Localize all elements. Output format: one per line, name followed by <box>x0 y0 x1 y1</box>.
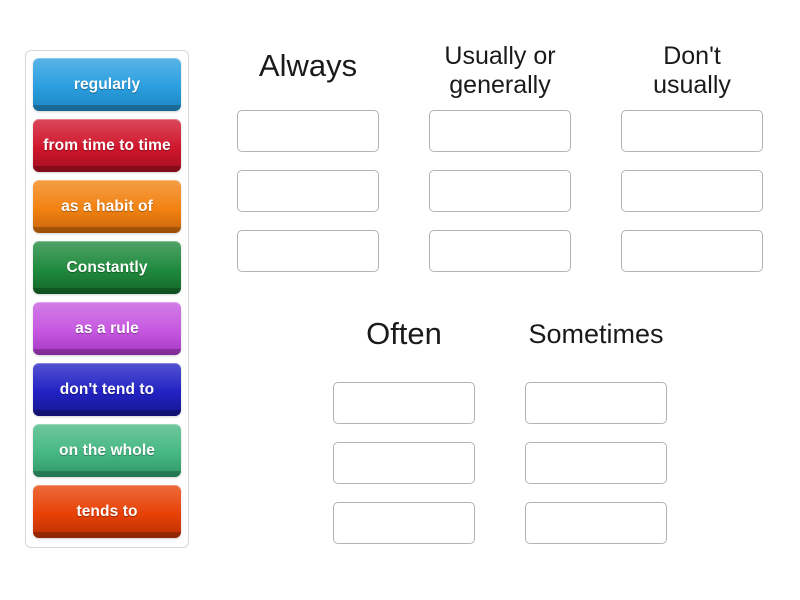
dropzone-slot[interactable] <box>333 382 475 424</box>
group-dropzones <box>621 110 763 272</box>
group-title: Usually or generally <box>429 42 571 110</box>
dropzone-slot[interactable] <box>429 230 571 272</box>
dropzone-slot[interactable] <box>429 110 571 152</box>
group-dropzones <box>429 110 571 272</box>
word-tile[interactable]: Constantly <box>33 241 181 294</box>
group-column-always: Always <box>237 48 379 272</box>
group-title: Don't usually <box>621 42 763 110</box>
dropzone-slot[interactable] <box>237 230 379 272</box>
word-tile-label: Constantly <box>60 259 153 277</box>
dropzone-slot[interactable] <box>333 442 475 484</box>
group-title: Often <box>333 316 475 382</box>
group-dropzones <box>525 382 667 544</box>
word-tile-label: on the whole <box>53 442 161 460</box>
dropzone-slot[interactable] <box>621 170 763 212</box>
word-tile[interactable]: as a habit of <box>33 180 181 233</box>
group-dropzones <box>237 110 379 272</box>
group-title: Always <box>237 48 379 110</box>
dropzone-slot[interactable] <box>237 170 379 212</box>
group-column-sometimes: Sometimes <box>525 316 667 544</box>
word-tile-label: as a rule <box>69 320 145 338</box>
word-tile[interactable]: from time to time <box>33 119 181 172</box>
group-dropzones <box>333 382 475 544</box>
word-tile[interactable]: don't tend to <box>33 363 181 416</box>
group-column-dont-usually: Don't usually <box>621 42 763 272</box>
word-tile[interactable]: tends to <box>33 485 181 538</box>
word-tile[interactable]: as a rule <box>33 302 181 355</box>
dropzone-slot[interactable] <box>621 230 763 272</box>
dropzone-slot[interactable] <box>525 442 667 484</box>
word-tile-label: from time to time <box>37 137 176 155</box>
group-column-usually-or-generally: Usually or generally <box>429 42 571 272</box>
activity-canvas: regularly from time to time as a habit o… <box>0 0 800 600</box>
dropzone-slot[interactable] <box>621 110 763 152</box>
group-column-often: Often <box>333 316 475 544</box>
dropzone-slot[interactable] <box>525 502 667 544</box>
word-tile-label: regularly <box>68 76 146 94</box>
dropzone-slot[interactable] <box>525 382 667 424</box>
word-tile-label: tends to <box>70 503 143 521</box>
dropzone-slot[interactable] <box>237 110 379 152</box>
word-tile[interactable]: regularly <box>33 58 181 111</box>
word-tile-label: as a habit of <box>55 198 159 216</box>
dropzone-slot[interactable] <box>333 502 475 544</box>
word-tile-label: don't tend to <box>54 381 161 399</box>
word-tile[interactable]: on the whole <box>33 424 181 477</box>
group-title: Sometimes <box>525 316 667 382</box>
word-tile-tray: regularly from time to time as a habit o… <box>25 50 189 548</box>
dropzone-slot[interactable] <box>429 170 571 212</box>
